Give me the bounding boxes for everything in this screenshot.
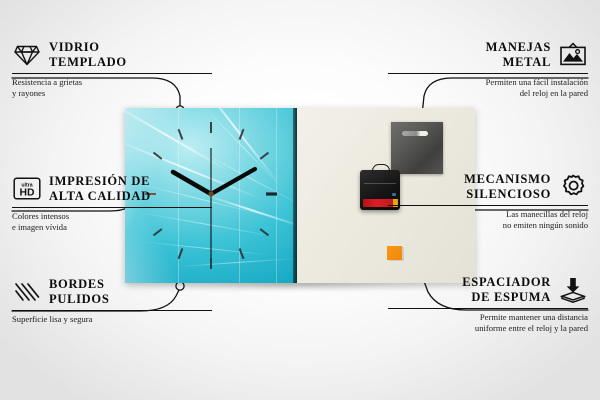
infographic-canvas: VIDRIO TEMPLADO Resistencia a grietas y … bbox=[0, 0, 600, 400]
feature-title: MECANISMO SILENCIOSO bbox=[464, 172, 551, 202]
feature-rule bbox=[12, 310, 212, 311]
feature-title: IMPRESIÓN DE ALTA CALIDAD bbox=[49, 174, 151, 204]
minute-hand bbox=[211, 169, 255, 194]
diamond-icon bbox=[12, 41, 42, 69]
foam-spacer-icon bbox=[558, 276, 588, 304]
hanger-slot bbox=[402, 131, 428, 136]
foam-spacer-pad bbox=[387, 246, 402, 260]
feature-polished-edges: BORDES PULIDOS Superficie lisa y segura bbox=[12, 277, 212, 325]
feature-rule bbox=[388, 73, 588, 74]
feature-head: ESPACIADOR DE ESPUMA bbox=[388, 275, 588, 305]
gear-icon bbox=[558, 173, 588, 201]
feature-silent-mechanism: MECANISMO SILENCIOSO Las manecillas del … bbox=[388, 172, 588, 231]
wall-frame-icon bbox=[558, 41, 588, 69]
feature-rule bbox=[12, 73, 212, 74]
feature-head: ultra HD IMPRESIÓN DE ALTA CALIDAD bbox=[12, 174, 212, 204]
feature-title: BORDES PULIDOS bbox=[49, 277, 109, 307]
feature-head: MECANISMO SILENCIOSO bbox=[388, 172, 588, 202]
feature-head: MANEJAS METAL bbox=[388, 40, 588, 70]
polished-edges-icon bbox=[12, 278, 42, 306]
feature-head: BORDES PULIDOS bbox=[12, 277, 212, 307]
feature-title: ESPACIADOR DE ESPUMA bbox=[462, 275, 551, 305]
feature-head: VIDRIO TEMPLADO bbox=[12, 40, 212, 70]
feature-desc: Resistencia a grietas y rayones bbox=[12, 77, 212, 100]
feature-desc: Superficie lisa y segura bbox=[12, 314, 212, 325]
feature-tempered-glass: VIDRIO TEMPLADO Resistencia a grietas y … bbox=[12, 40, 212, 99]
feature-foam-spacer: ESPACIADOR DE ESPUMA Permite mantener un… bbox=[388, 275, 588, 334]
hd-text: HD bbox=[19, 188, 35, 199]
feature-rule bbox=[388, 205, 588, 206]
feature-desc: Permiten una fácil instalación del reloj… bbox=[388, 77, 588, 100]
feature-rule bbox=[388, 308, 588, 309]
feature-desc: Las manecillas del reloj no emiten ningú… bbox=[388, 209, 588, 232]
feature-rule bbox=[12, 207, 212, 208]
feature-title: VIDRIO TEMPLADO bbox=[49, 40, 127, 70]
feature-metal-hangers: MANEJAS METAL Permiten una fácil instala… bbox=[388, 40, 588, 99]
feature-title: MANEJAS METAL bbox=[486, 40, 551, 70]
metal-hanger-plate bbox=[391, 122, 443, 174]
feature-hd-print: ultra HD IMPRESIÓN DE ALTA CALIDAD Color… bbox=[12, 174, 212, 233]
feature-desc: Colores intensos e imagen vívida bbox=[12, 211, 212, 234]
feature-desc: Permite mantener una distancia uniforme … bbox=[388, 312, 588, 335]
ultra-hd-icon: ultra HD bbox=[12, 175, 42, 203]
